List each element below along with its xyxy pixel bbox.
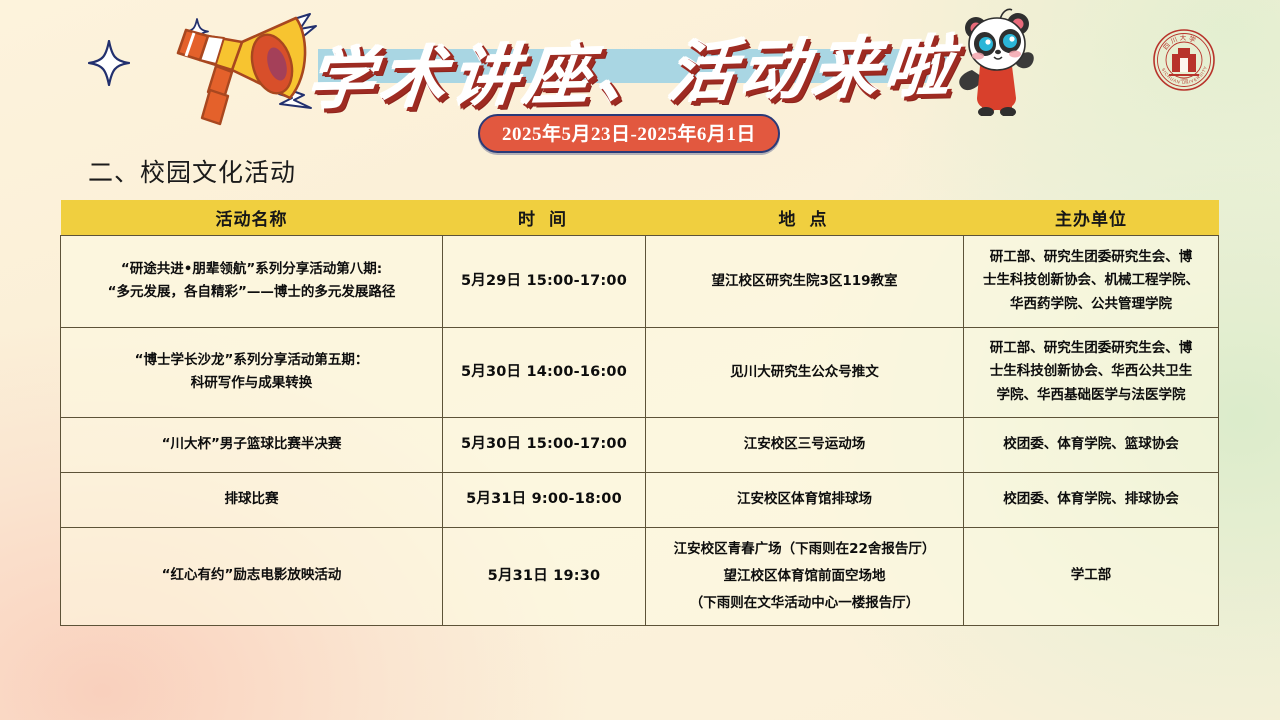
column-header-activity-name: 活动名称 xyxy=(61,200,443,235)
cell-location: 江安校区青春广场（下雨则在22舍报告厅） 望江校区体育馆前面空场地 （下雨则在文… xyxy=(646,527,964,625)
megaphone-icon xyxy=(150,12,330,130)
table-row: “博士学长沙龙”系列分享活动第五期： 科研写作与成果转换 5月30日 14:00… xyxy=(61,327,1219,417)
table-row: 排球比赛 5月31日 9:00-18:00 江安校区体育馆排球场 校团委、体育学… xyxy=(61,472,1219,527)
cell-organizer: 校团委、体育学院、篮球协会 xyxy=(964,417,1219,472)
column-header-location: 地 点 xyxy=(646,200,964,235)
cell-location: 望江校区研究生院3区119教室 xyxy=(646,235,964,327)
cell-time: 5月31日 9:00-18:00 xyxy=(443,472,646,527)
page-banner: 学术讲座、活动来啦 2025年5月23日-2025年6月1日 xyxy=(0,0,1280,155)
cell-activity-name: “川大杯”男子篮球比赛半决赛 xyxy=(61,417,443,472)
cell-time: 5月31日 19:30 xyxy=(443,527,646,625)
date-range-badge: 2025年5月23日-2025年6月1日 xyxy=(478,114,780,153)
cell-time: 5月30日 15:00-17:00 xyxy=(443,417,646,472)
column-header-time: 时 间 xyxy=(443,200,646,235)
cell-location: 江安校区三号运动场 xyxy=(646,417,964,472)
cell-organizer: 研工部、研究生团委研究生会、博 士生科技创新协会、华西公共卫生 学院、华西基础医… xyxy=(964,327,1219,417)
cell-activity-name: 排球比赛 xyxy=(61,472,443,527)
table-body: “研途共进•朋辈领航”系列分享活动第八期: “多元发展，各自精彩”——博士的多元… xyxy=(61,235,1219,625)
cell-organizer: 研工部、研究生团委研究生会、博 士生科技创新协会、机械工程学院、 华西药学院、公… xyxy=(964,235,1219,327)
sparkle-star-icon xyxy=(88,40,130,86)
cell-organizer: 学工部 xyxy=(964,527,1219,625)
panda-mascot xyxy=(952,4,1038,116)
cell-location: 江安校区体育馆排球场 xyxy=(646,472,964,527)
cell-activity-name: “博士学长沙龙”系列分享活动第五期： 科研写作与成果转换 xyxy=(61,327,443,417)
table-header-row: 活动名称 时 间 地 点 主办单位 xyxy=(61,200,1219,235)
cell-time: 5月30日 14:00-16:00 xyxy=(443,327,646,417)
cell-activity-name: “红心有约”励志电影放映活动 xyxy=(61,527,443,625)
activity-schedule-table: 活动名称 时 间 地 点 主办单位 “研途共进•朋辈领航”系列分享活动第八期: … xyxy=(60,200,1219,626)
cell-location: 见川大研究生公众号推文 xyxy=(646,327,964,417)
cell-time: 5月29日 15:00-17:00 xyxy=(443,235,646,327)
sichuan-university-logo: 1896 四川大学 SICHUAN UNIVERSITY xyxy=(1152,28,1216,92)
table-row: “红心有约”励志电影放映活动 5月31日 19:30 江安校区青春广场（下雨则在… xyxy=(61,527,1219,625)
cell-activity-name: “研途共进•朋辈领航”系列分享活动第八期: “多元发展，各自精彩”——博士的多元… xyxy=(61,235,443,327)
column-header-organizer: 主办单位 xyxy=(964,200,1219,235)
table-row: “研途共进•朋辈领航”系列分享活动第八期: “多元发展，各自精彩”——博士的多元… xyxy=(61,235,1219,327)
section-title: 二、校园文化活动 xyxy=(88,153,296,189)
table-row: “川大杯”男子篮球比赛半决赛 5月30日 15:00-17:00 江安校区三号运… xyxy=(61,417,1219,472)
page-title: 学术讲座、活动来啦 xyxy=(312,7,954,128)
cell-organizer: 校团委、体育学院、排球协会 xyxy=(964,472,1219,527)
